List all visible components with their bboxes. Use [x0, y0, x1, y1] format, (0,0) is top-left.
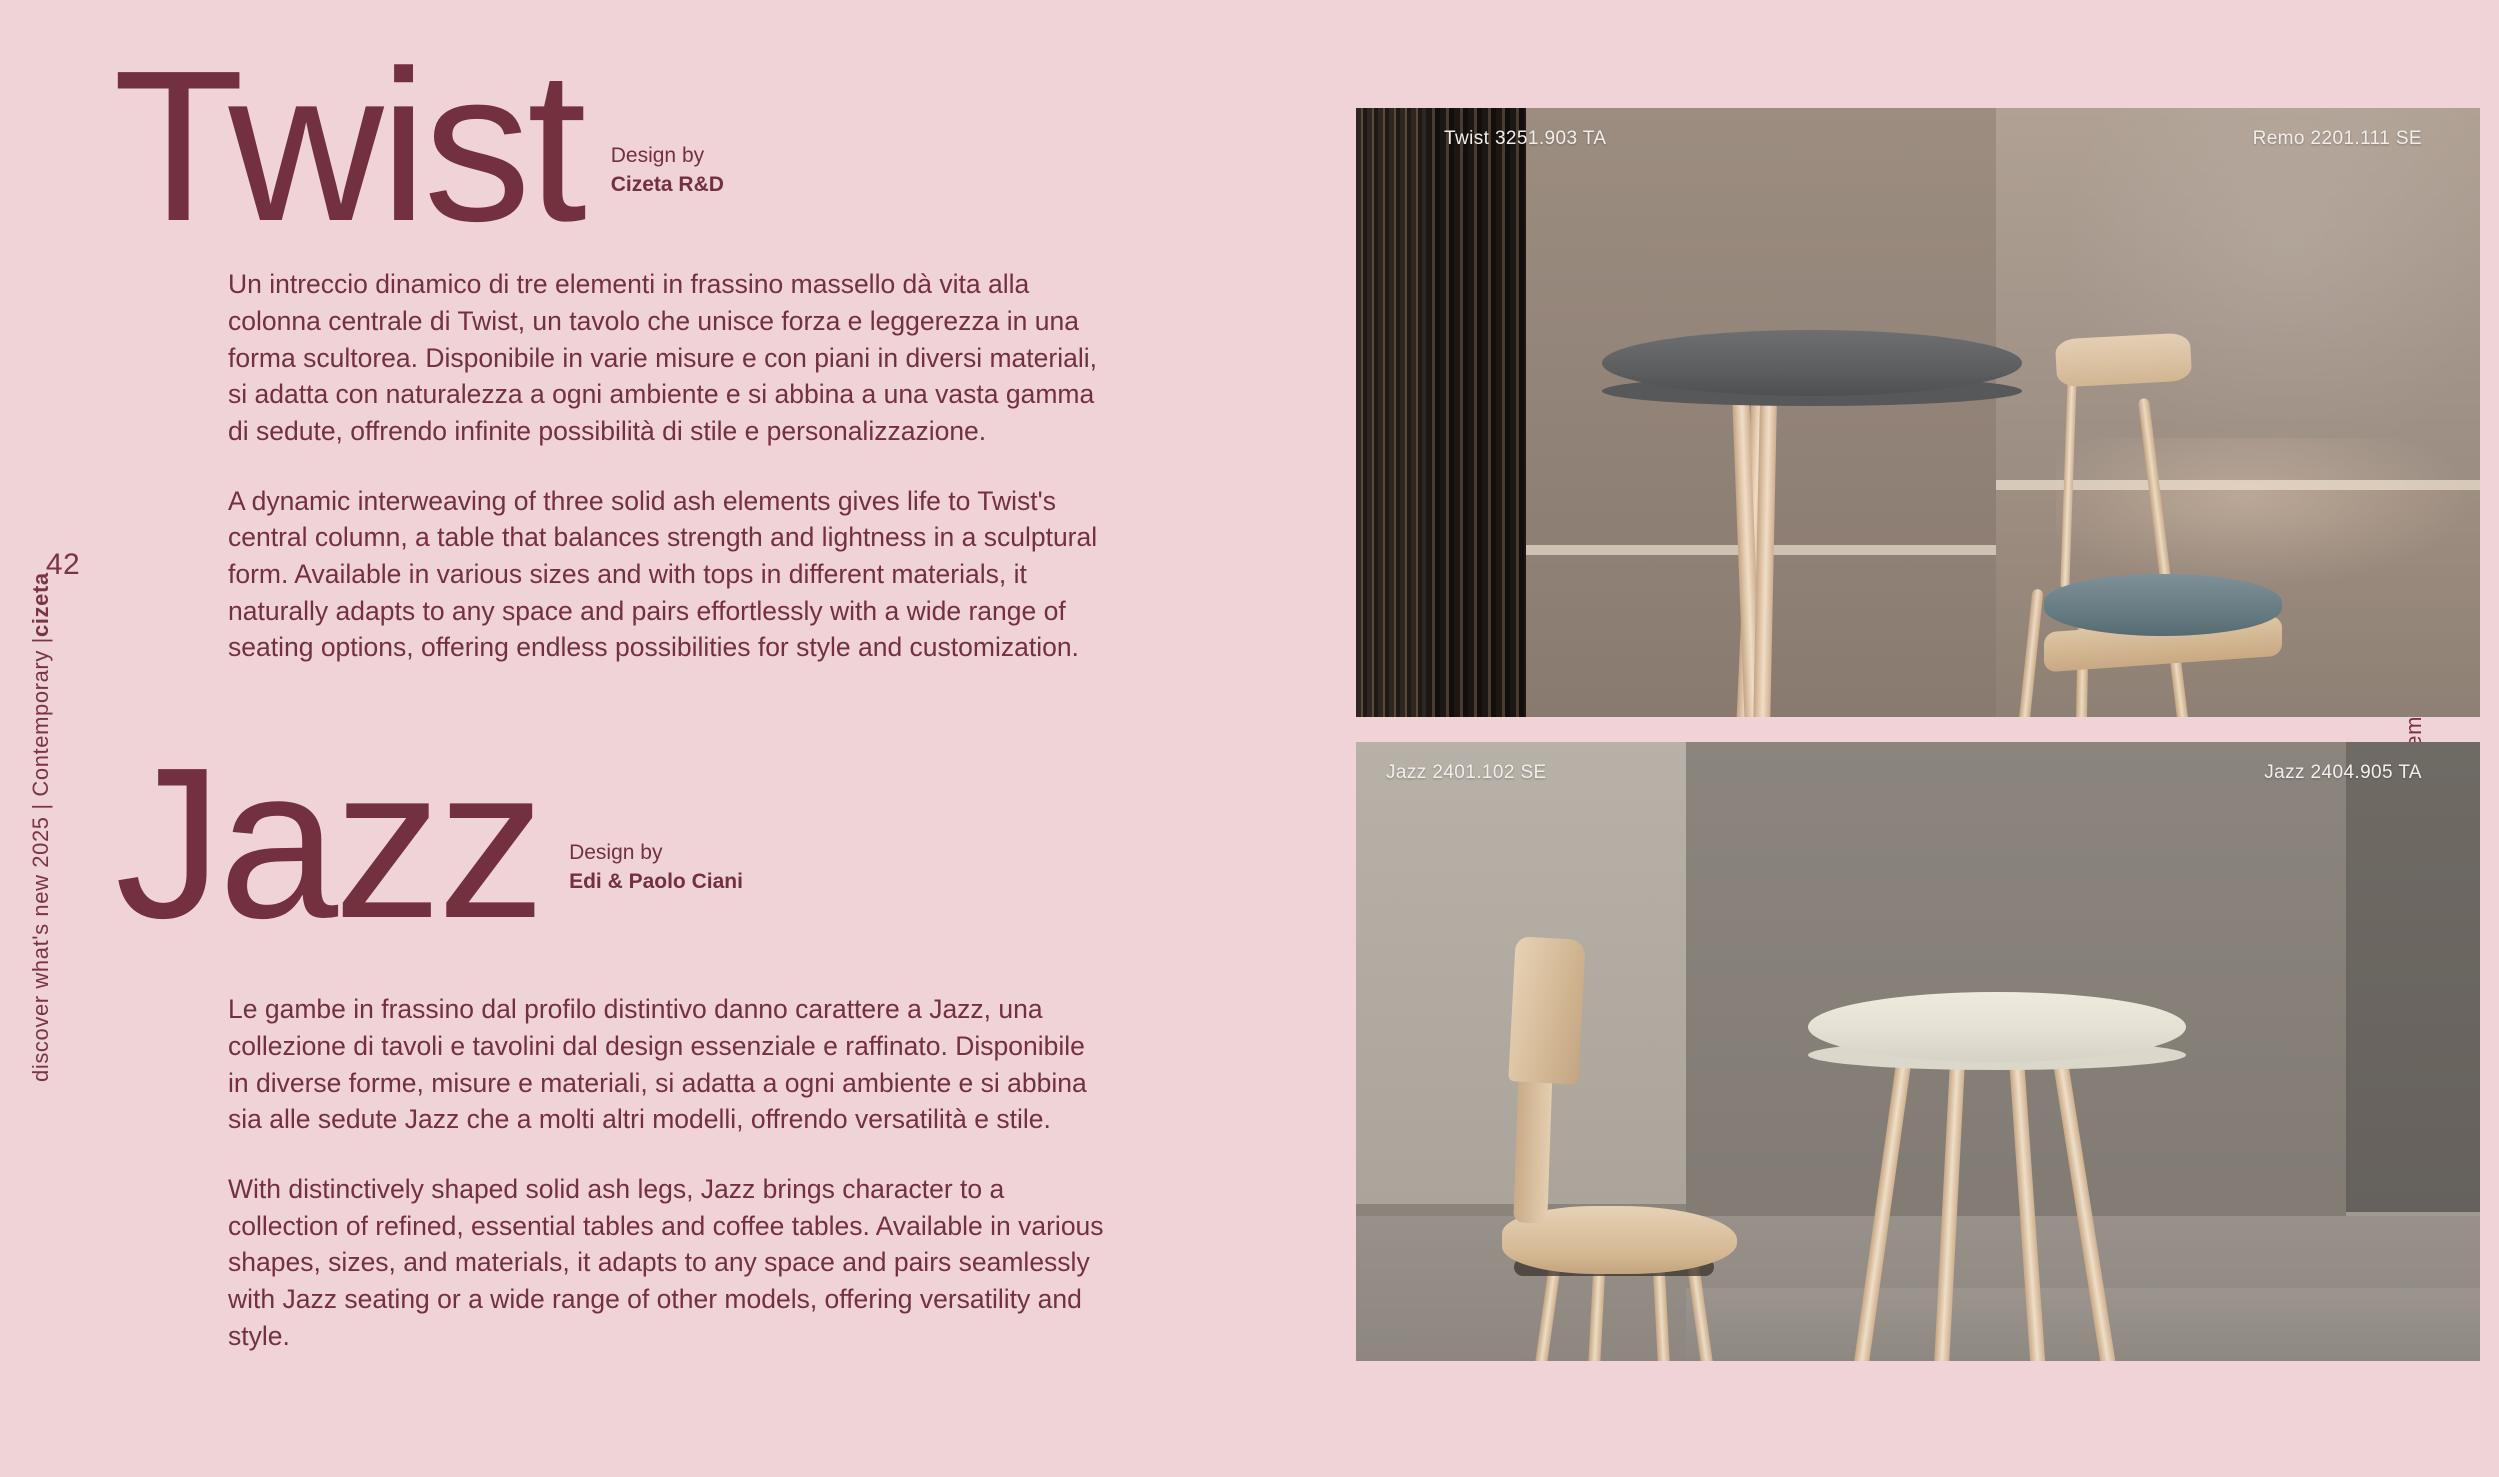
running-footer-left-text: discover what's new 2025 | Contemporary …: [28, 637, 54, 1082]
remo-front-left-leg: [1983, 589, 2043, 717]
left-page-rail: 42 discover what's new 2025 | Contempora…: [28, 0, 98, 1477]
jazz-chair-backrest: [1508, 936, 1585, 1084]
twist-table-column: [1736, 394, 1770, 717]
twist-photo-label-right: Remo 2201.111 SE: [2253, 128, 2422, 150]
remo-chair: [1916, 336, 2266, 717]
twist-paragraph-it: Un intreccio dinamico di tre elementi in…: [228, 266, 1108, 449]
photo-column: Twist 3251.903 TA Remo 2201.111 SE: [1356, 108, 2480, 1361]
twist-credit-label: Design by: [611, 141, 724, 171]
twist-body: Un intreccio dinamico di tre elementi in…: [228, 266, 1108, 666]
jazz-paragraph-en: With distinctively shaped solid ash legs…: [228, 1171, 1108, 1354]
catalog-spread: 42 discover what's new 2025 | Contempora…: [0, 0, 2499, 1477]
remo-backrest: [2055, 333, 2192, 388]
twist-remo-photo: Twist 3251.903 TA Remo 2201.111 SE: [1356, 108, 2480, 717]
twist-title-row: Twist Design by Cizeta R&D: [125, 58, 1108, 234]
slat-wall-outer: [1356, 108, 1426, 717]
section-jazz: Jazz Design by Edi & Paolo Ciani Le gamb…: [125, 755, 1108, 1387]
jazz-body: Le gambe in frassino dal profilo distint…: [228, 991, 1108, 1354]
twist-credit: Design by Cizeta R&D: [611, 141, 724, 235]
remo-seat-cushion: [2044, 574, 2282, 636]
jazz-chair-back-spine: [1513, 1062, 1553, 1223]
twist-paragraph-en: A dynamic interweaving of three solid as…: [228, 483, 1108, 666]
brand-name-left: cizeta: [28, 572, 54, 637]
remo-back-post-left: [2060, 374, 2076, 589]
jazz-wall-far: [2346, 742, 2480, 1212]
jazz-table-top: [1808, 992, 2186, 1062]
twist-photo-label-left: Twist 3251.903 TA: [1444, 128, 1606, 150]
jazz-credit: Design by Edi & Paolo Ciani: [569, 838, 743, 932]
jazz-photo-label-left: Jazz 2401.102 SE: [1386, 762, 1547, 784]
jazz-photo: Jazz 2401.102 SE Jazz 2404.905 TA: [1356, 742, 2480, 1361]
remo-rear-right-leg: [2138, 398, 2229, 717]
jazz-chair: [1474, 938, 1804, 1361]
jazz-title-row: Jazz Design by Edi & Paolo Ciani: [125, 755, 1108, 931]
jazz-table-leg-3: [2009, 1058, 2062, 1361]
jazz-credit-name: Edi & Paolo Ciani: [569, 870, 743, 893]
section-twist: Twist Design by Cizeta R&D Un intreccio …: [125, 58, 1108, 699]
jazz-title: Jazz: [115, 755, 541, 931]
slat-wall-inner: [1426, 108, 1526, 717]
jazz-credit-label: Design by: [569, 838, 743, 868]
text-column: Twist Design by Cizeta R&D Un intreccio …: [125, 0, 1205, 1477]
jazz-photo-label-right: Jazz 2404.905 TA: [2264, 762, 2422, 784]
jazz-table-leg-4: [2052, 1056, 2154, 1361]
jazz-paragraph-it: Le gambe in frassino dal profilo distint…: [228, 991, 1108, 1138]
running-footer-left: discover what's new 2025 | Contemporary …: [28, 322, 98, 1082]
jazz-table: [1796, 992, 2216, 1361]
twist-credit-name: Cizeta R&D: [611, 173, 724, 196]
twist-title: Twist: [113, 58, 583, 234]
jazz-table-leg-2: [1922, 1058, 1965, 1361]
jazz-table-leg-1: [1819, 1056, 1912, 1361]
